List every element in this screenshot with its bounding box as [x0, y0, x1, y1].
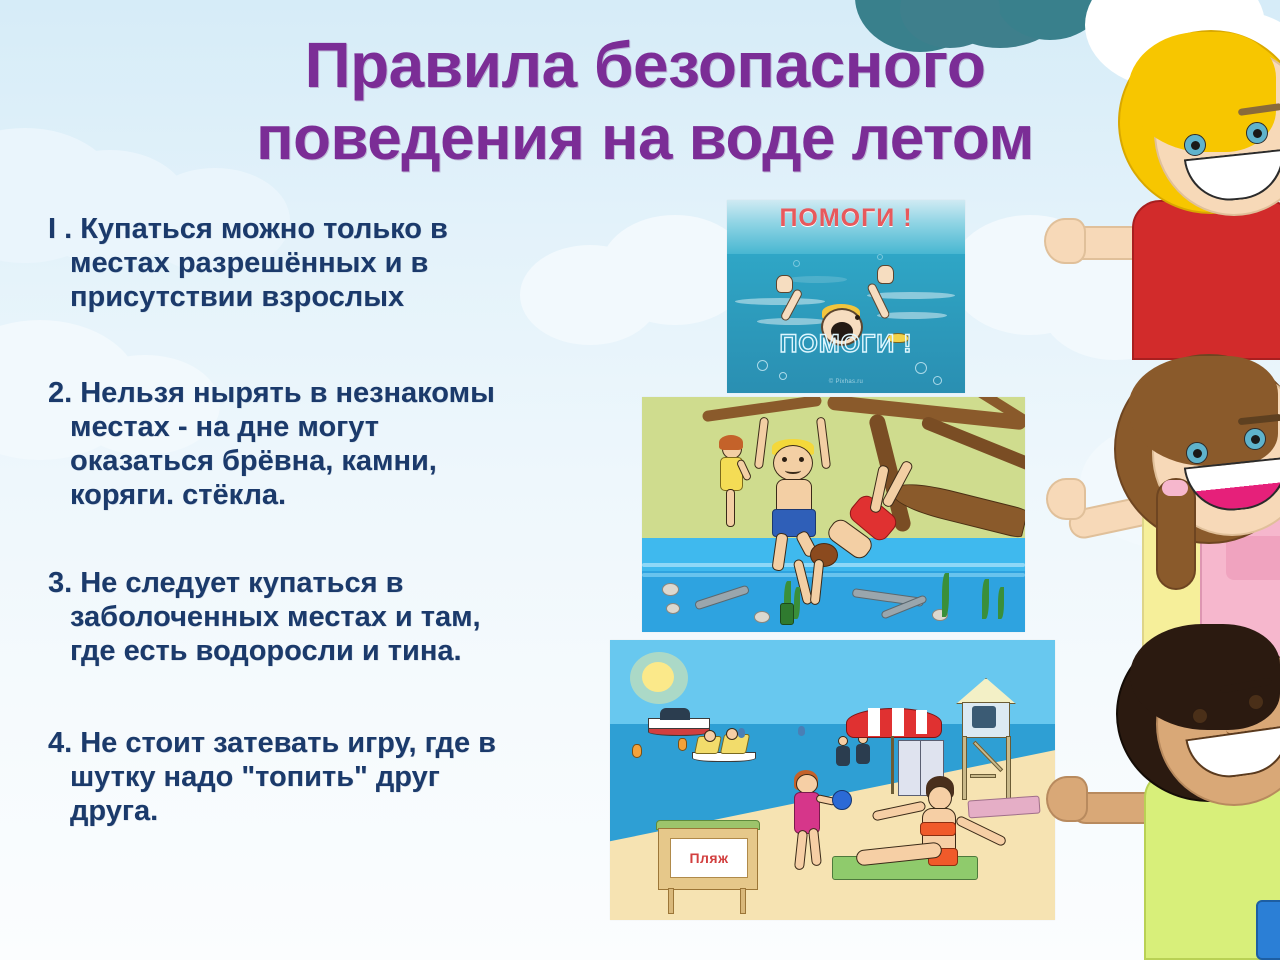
blonde-boy-mascot	[1080, 30, 1280, 340]
title-line-2: поведения на воде летом	[140, 102, 1150, 176]
beach-shallow-swimmer-2-body	[856, 744, 870, 764]
beach-motorboat-stripe	[648, 728, 710, 736]
girl-eye-left	[1186, 442, 1208, 464]
beach-sign-label: Пляж	[689, 850, 728, 866]
beach-lifeguard-leg-2	[1006, 736, 1011, 800]
beach-sign-leg-1	[668, 888, 674, 914]
supervised-beach-illustration: Пляж	[610, 640, 1055, 920]
dark-boy-hand	[1046, 776, 1088, 822]
rule-text-1: I . Купаться можно только в местах разре…	[48, 212, 628, 314]
help-bubble-2	[779, 372, 787, 380]
page-title: Правила безопасного поведения на воде ле…	[140, 28, 1150, 176]
dark-boy-eye-left	[1192, 708, 1208, 724]
beach-pedalboat-rider-1	[704, 730, 716, 742]
help-swimmer-right-hand	[877, 265, 894, 284]
help-bubble-5	[793, 260, 800, 267]
dive-hanging-boy-eye-left	[782, 457, 787, 462]
blonde-boy-hand	[1044, 218, 1086, 264]
help-bubble-4	[933, 376, 942, 385]
dark-hair-boy-mascot	[1080, 640, 1280, 960]
beach-lifeguard-leg-1	[962, 736, 967, 800]
help-swimmer-left-hand	[776, 275, 793, 293]
blonde-boy-shirt	[1132, 200, 1280, 360]
help-wave-5	[787, 276, 847, 283]
help-wave-3	[757, 318, 827, 325]
beach-sign-leg-2	[740, 888, 746, 914]
title-line-1: Правила безопасного	[140, 28, 1150, 102]
blonde-boy-eye-left	[1184, 134, 1206, 156]
dive-girl-hair	[719, 435, 743, 450]
help-swimmer-eye	[855, 315, 860, 320]
beach-girl-head	[796, 774, 818, 794]
help-bubble-1	[757, 360, 768, 371]
beach-sun	[642, 662, 674, 692]
beach-ball	[832, 790, 852, 810]
beach-pedalboat-rider-2	[726, 728, 738, 740]
beach-buoy-1	[632, 744, 642, 758]
help-wave-1	[735, 298, 825, 305]
beach-umbrella-pole	[891, 736, 894, 794]
rule-item-2: 2. Нельзя нырять в незнакомы местах - на…	[48, 376, 628, 512]
help-bubble-3	[915, 362, 927, 374]
rule-item-3: 3. Не следует купаться в заболоченных ме…	[48, 566, 628, 668]
girl-hand	[1046, 478, 1086, 520]
dark-boy-eye-right	[1248, 694, 1264, 710]
beach-umbrella-stripe-2	[892, 708, 904, 736]
dive-hanging-boy-smile	[785, 467, 801, 474]
beach-buoy-4	[798, 726, 805, 736]
dive-hazard-bottle	[780, 603, 794, 625]
dive-weed-3	[942, 573, 949, 617]
diving-into-unknown-river-illustration	[642, 397, 1025, 632]
help-watermark: © Pixhas.ru	[829, 379, 863, 385]
help-caption-bottom: ПОМОГИ !	[727, 330, 965, 359]
dive-wave-2	[642, 573, 1025, 577]
beach-shallow-swimmer-1-body	[836, 746, 850, 766]
rule-item-4: 4. Не стоит затевать игру, где в шутку н…	[48, 726, 628, 828]
dive-hazard-stone-2	[666, 603, 680, 614]
dive-girl-legs	[726, 489, 735, 527]
help-caption-top: ПОМОГИ !	[727, 204, 965, 233]
rule-text-4: 4. Не стоит затевать игру, где в шутку н…	[48, 726, 628, 828]
rules-list: I . Купаться можно только в местах разре…	[48, 212, 628, 866]
rule-text-3: 3. Не следует купаться в заболоченных ме…	[48, 566, 628, 668]
dive-weed-4	[982, 579, 989, 619]
beach-sign-label-plate: Пляж	[670, 838, 748, 878]
beach-lifeguard-person	[972, 706, 996, 728]
beach-woman-bikini-top	[920, 822, 956, 836]
blonde-boy-eye-right	[1246, 122, 1268, 144]
drowning-swimmer-illustration: ПОМОГИ ! ПОМОГИ ! © Pixhas.ru	[727, 200, 965, 393]
dive-hazard-stone-1	[662, 583, 679, 596]
beach-woman-head	[928, 786, 952, 810]
dive-weed-2	[794, 587, 800, 619]
brown-hair-girl-mascot	[1080, 360, 1280, 660]
dark-boy-shorts	[1256, 900, 1280, 960]
help-bubble-6	[877, 254, 883, 260]
girl-overalls-pocket	[1226, 536, 1280, 580]
beach-buoy-2	[678, 738, 687, 751]
girl-hair-tie	[1162, 480, 1188, 496]
beach-lifeguard-stair-step	[970, 774, 996, 778]
dive-hanging-boy-eye-right	[799, 457, 804, 462]
rule-item-1: I . Купаться можно только в местах разре…	[48, 212, 628, 314]
beach-buoy-3	[738, 728, 745, 738]
beach-umbrella-stripe-3	[916, 710, 927, 734]
dive-hanging-boy-head	[773, 445, 813, 481]
dive-hazard-stone-3	[754, 611, 770, 623]
beach-shallow-swimmer-1	[838, 736, 848, 746]
slide-canvas: Правила безопасного поведения на воде ле…	[0, 0, 1280, 960]
rule-text-2: 2. Нельзя нырять в незнакомы местах - на…	[48, 376, 628, 512]
beach-umbrella-stripe-1	[868, 708, 880, 736]
beach-cabin-divider	[920, 740, 921, 796]
dive-weed-5	[998, 587, 1004, 619]
beach-motorboat-cabin	[660, 708, 690, 720]
girl-eye-right	[1244, 428, 1266, 450]
